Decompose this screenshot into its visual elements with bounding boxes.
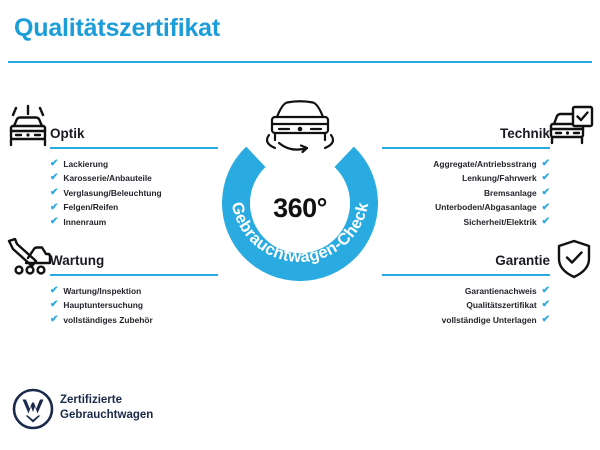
check-icon: ✔: [542, 286, 550, 296]
check-icon: ✔: [542, 300, 550, 310]
check-icon: ✔: [50, 188, 58, 198]
car-shine-icon: [6, 104, 50, 157]
list-item-label: Lackierung: [63, 157, 108, 172]
badge-360-check: Gebrauchtwagen-Check 360°: [205, 95, 395, 295]
check-icon: ✔: [50, 286, 58, 296]
page-title: Qualitätszertifikat: [14, 14, 220, 43]
check-icon: ✔: [50, 173, 58, 183]
check-icon: ✔: [542, 159, 550, 169]
list-item: ✔ Lackierung: [50, 157, 218, 172]
vw-logo-icon: [12, 388, 54, 430]
list-item: Bremsanlage ✔: [382, 186, 550, 201]
badge-value: 360°: [205, 193, 395, 224]
section-technik: Technik Aggregate/Antriebsstrang ✔ Lenku…: [382, 126, 550, 230]
check-icon: ✔: [542, 173, 550, 183]
check-icon: ✔: [542, 188, 550, 198]
check-icon: ✔: [542, 315, 550, 325]
list-item-label: Wartung/Inspektion: [63, 284, 141, 299]
section-divider-wartung: [50, 274, 218, 276]
shield-check-icon: [556, 238, 592, 285]
list-item-label: Sicherheit/Elektrik: [464, 215, 537, 230]
title-divider: [8, 61, 592, 63]
section-items-technik: Aggregate/Antriebsstrang ✔ Lenkung/Fahrw…: [382, 157, 550, 230]
check-icon: ✔: [542, 217, 550, 227]
section-items-garantie: Garantienachweis ✔ Qualitätszertifikat ✔…: [382, 284, 550, 328]
section-title-wartung: Wartung: [50, 253, 218, 269]
footer-line-2: Gebrauchtwagen: [60, 408, 153, 423]
list-item: Lenkung/Fahrwerk ✔: [382, 171, 550, 186]
list-item-label: Qualitätszertifikat: [466, 298, 536, 313]
section-divider-optik: [50, 147, 218, 149]
section-items-optik: ✔ Lackierung ✔ Karosserie/Anbauteile ✔ V…: [50, 157, 218, 230]
list-item: vollständige Unterlagen ✔: [382, 313, 550, 328]
list-item: Sicherheit/Elektrik ✔: [382, 215, 550, 230]
check-icon: ✔: [542, 203, 550, 213]
list-item-label: Hauptuntersuchung: [63, 298, 143, 313]
list-item-label: Garantienachweis: [465, 284, 537, 299]
list-item: Unterboden/Abgasanlage ✔: [382, 200, 550, 215]
list-item-label: Innenraum: [63, 215, 106, 230]
list-item-label: Karosserie/Anbauteile: [63, 171, 151, 186]
list-item: ✔ Verglasung/Beleuchtung: [50, 186, 218, 201]
check-icon: ✔: [50, 203, 58, 213]
check-icon: ✔: [50, 159, 58, 169]
section-optik: Optik ✔ Lackierung ✔ Karosserie/Anbautei…: [50, 126, 218, 230]
list-item-label: Bremsanlage: [484, 186, 537, 201]
certificate-page: Qualitätszertifikat: [0, 0, 600, 450]
list-item-label: vollständige Unterlagen: [442, 313, 537, 328]
check-icon: ✔: [50, 315, 58, 325]
footer-line-1: Zertifizierte: [60, 393, 153, 408]
car-checkbox-icon: [548, 104, 594, 155]
list-item-label: Verglasung/Beleuchtung: [63, 186, 161, 201]
list-item: ✔ Hauptuntersuchung: [50, 298, 218, 313]
check-icon: ✔: [50, 300, 58, 310]
list-item: ✔ Innenraum: [50, 215, 218, 230]
section-items-wartung: ✔ Wartung/Inspektion ✔ Hauptuntersuchung…: [50, 284, 218, 328]
list-item-label: Felgen/Reifen: [63, 200, 118, 215]
car-wrench-icon: [6, 236, 52, 285]
footer-text: Zertifizierte Gebrauchtwagen: [60, 393, 153, 423]
list-item: ✔ vollständiges Zubehör: [50, 313, 218, 328]
list-item: Qualitätszertifikat ✔: [382, 298, 550, 313]
section-divider-garantie: [382, 274, 550, 276]
section-garantie: Garantie Garantienachweis ✔ Qualitätszer…: [382, 253, 550, 327]
list-item-label: vollständiges Zubehör: [63, 313, 152, 328]
section-divider-technik: [382, 147, 550, 149]
list-item-label: Aggregate/Antriebsstrang: [433, 157, 536, 172]
list-item: ✔ Karosserie/Anbauteile: [50, 171, 218, 186]
section-title-garantie: Garantie: [382, 253, 550, 269]
list-item-label: Unterboden/Abgasanlage: [435, 200, 536, 215]
section-title-technik: Technik: [382, 126, 550, 142]
list-item: Aggregate/Antriebsstrang ✔: [382, 157, 550, 172]
section-wartung: Wartung ✔ Wartung/Inspektion ✔ Hauptunte…: [50, 253, 218, 327]
list-item-label: Lenkung/Fahrwerk: [462, 171, 536, 186]
check-icon: ✔: [50, 217, 58, 227]
list-item: Garantienachweis ✔: [382, 284, 550, 299]
list-item: ✔ Felgen/Reifen: [50, 200, 218, 215]
section-title-optik: Optik: [50, 126, 218, 142]
list-item: ✔ Wartung/Inspektion: [50, 284, 218, 299]
